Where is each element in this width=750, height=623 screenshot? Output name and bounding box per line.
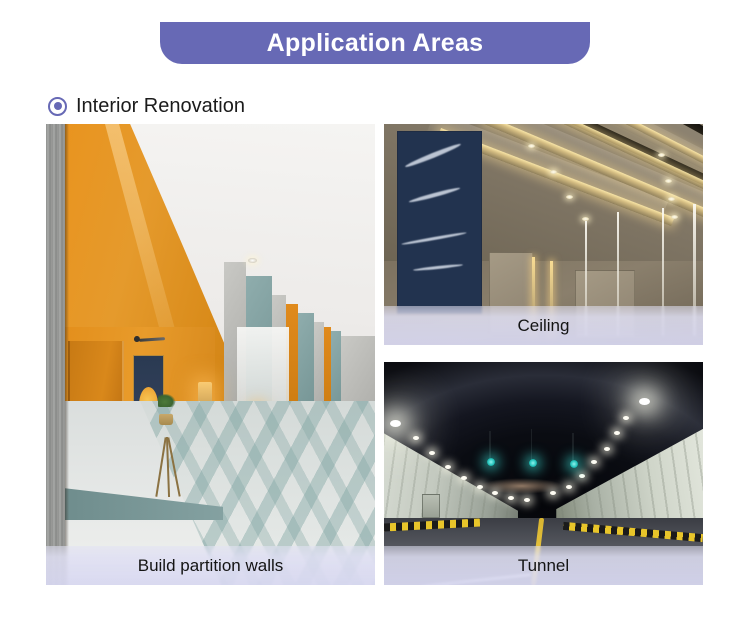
radio-bullet-icon [48,97,67,116]
header: Application Areas [0,0,750,90]
page-title-banner: Application Areas [160,22,590,64]
section-heading-label: Interior Renovation [76,96,245,116]
gallery-caption-text: Ceiling [518,317,570,334]
corridor-photo [46,124,375,585]
gallery-caption-text: Tunnel [518,557,569,574]
gallery-item-ceiling[interactable]: Ceiling [384,124,703,345]
gallery-caption: Build partition walls [46,546,375,585]
gallery-caption: Ceiling [384,306,703,345]
application-areas-gallery: Build partition walls [46,124,703,585]
gallery-caption: Tunnel [384,546,703,585]
tunnel-service-door [422,494,440,518]
gallery-item-tunnel[interactable]: Tunnel [384,362,703,585]
page-title: Application Areas [267,31,484,56]
section-heading: Interior Renovation [48,91,245,121]
gallery-item-build-partition-walls[interactable]: Build partition walls [46,124,375,585]
gallery-caption-text: Build partition walls [138,557,284,574]
wall-artwork [397,131,482,314]
